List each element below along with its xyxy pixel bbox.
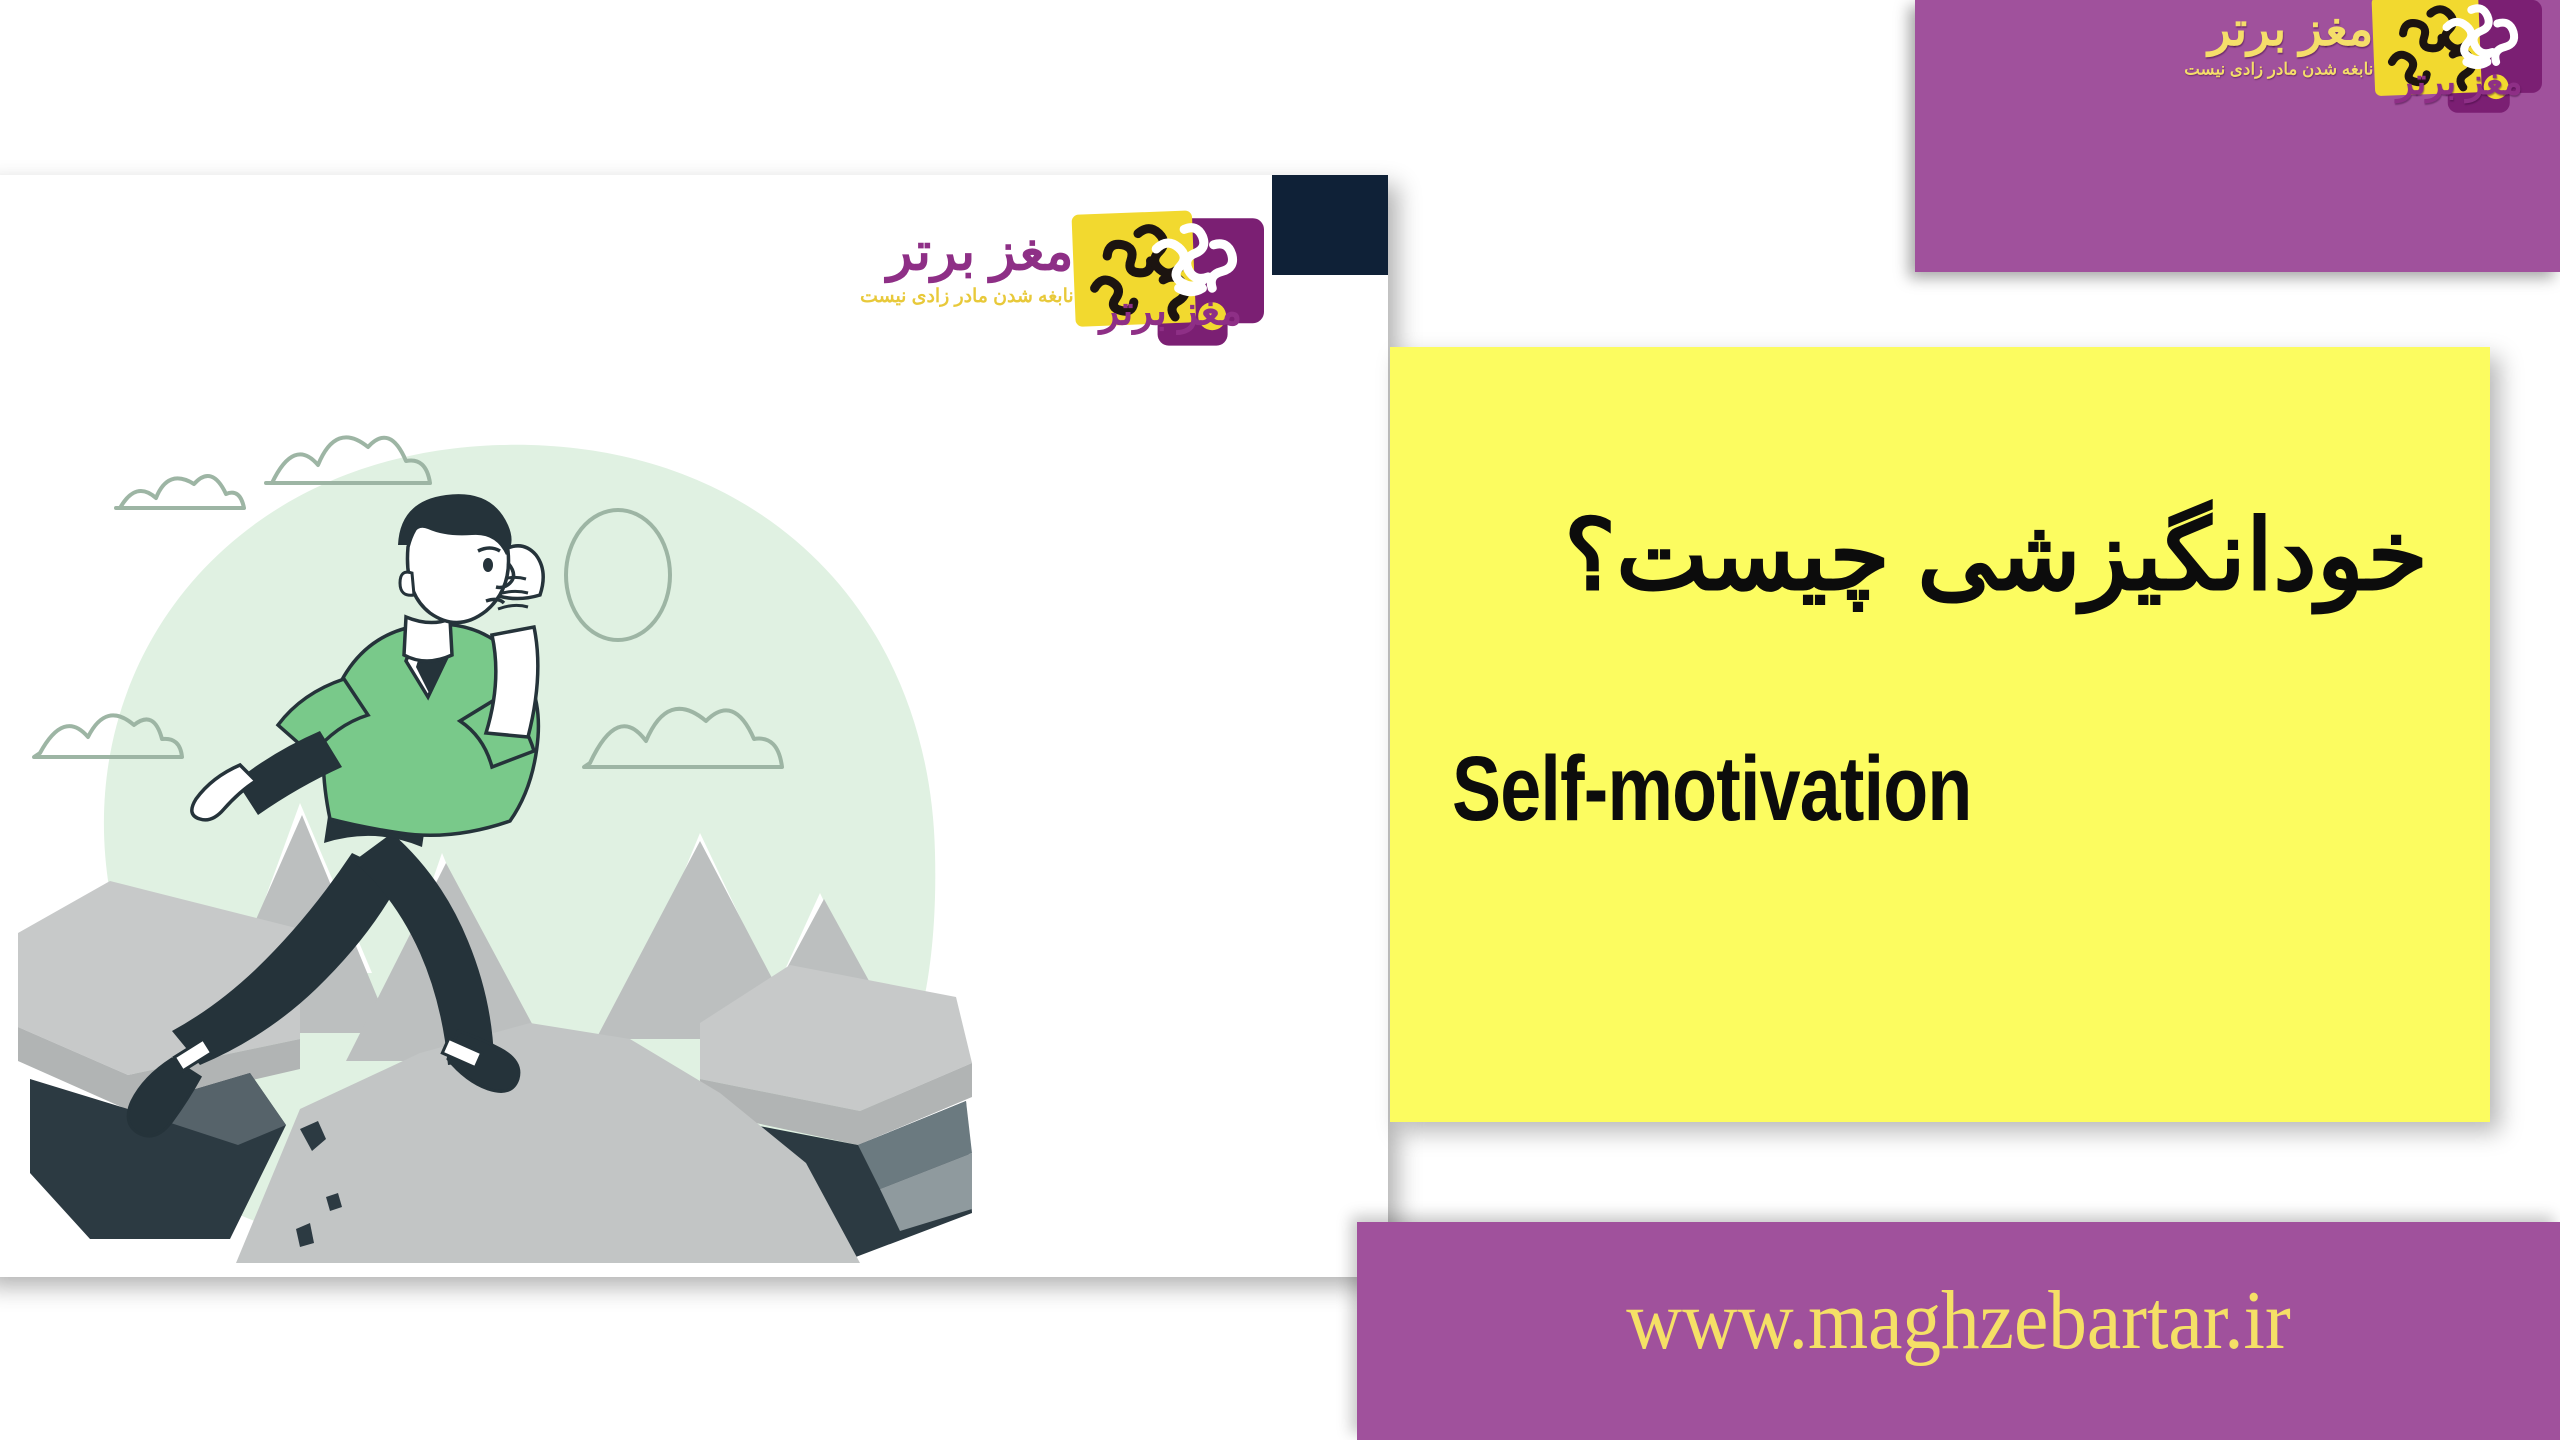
logo-brand-name: مغز برتر — [860, 225, 1074, 278]
logo-tagline: نابغه شدن مادر زادی نیست — [860, 287, 1074, 306]
logo-mark-puzzle-brain: مغز برتر — [2373, 0, 2542, 116]
logo-brand-name: مغز برتر — [2184, 6, 2373, 53]
top-brand-banner: مغز برتر نابغه شدن مادر زادی نیست — [1915, 0, 2560, 272]
logo-tagline: نابغه شدن مادر زادی نیست — [2184, 61, 2373, 78]
top-banner-logo-wrap: مغز برتر نابغه شدن مادر زادی نیست — [2114, 0, 2542, 145]
footer-url-banner: www.maghzebartar.ir — [1357, 1222, 2560, 1440]
runner-front-arm-forearm — [486, 627, 538, 737]
logo-wordmark: مغز برتر نابغه شدن مادر زادی نیست — [860, 225, 1074, 306]
headline-title-fa: خودانگیزشی چیست؟ — [1390, 499, 2428, 612]
logo-mark-script: مغز برتر — [1078, 291, 1264, 332]
logo-mark-puzzle-brain: مغز برتر — [1074, 213, 1264, 350]
footer-website-url[interactable]: www.maghzebartar.ir — [1405, 1272, 2512, 1369]
slide-canvas: مغز برتر نابغه شدن مادر زادی نیست — [0, 0, 2560, 1440]
runner-eye — [483, 558, 493, 572]
runner-ear — [400, 572, 414, 595]
content-card: مغز برتر نابغه شدن مادر زادی نیست — [0, 175, 1388, 1277]
navy-accent-block — [1272, 175, 1388, 275]
logo-mark-script: مغز برتر — [2377, 64, 2542, 100]
runner-neck — [404, 617, 452, 661]
headline-title-en: Self-motivation — [1452, 737, 1972, 842]
illustration-man-jumping-over-cliff-gap — [0, 333, 1000, 1263]
logo-wordmark: مغز برتر نابغه شدن مادر زادی نیست — [2184, 6, 2373, 77]
logo-maghz-bartar: مغز برتر نابغه شدن مادر زادی نیست — [2114, 0, 2542, 145]
headline-panel: خودانگیزشی چیست؟ Self-motivation — [1390, 347, 2490, 1122]
